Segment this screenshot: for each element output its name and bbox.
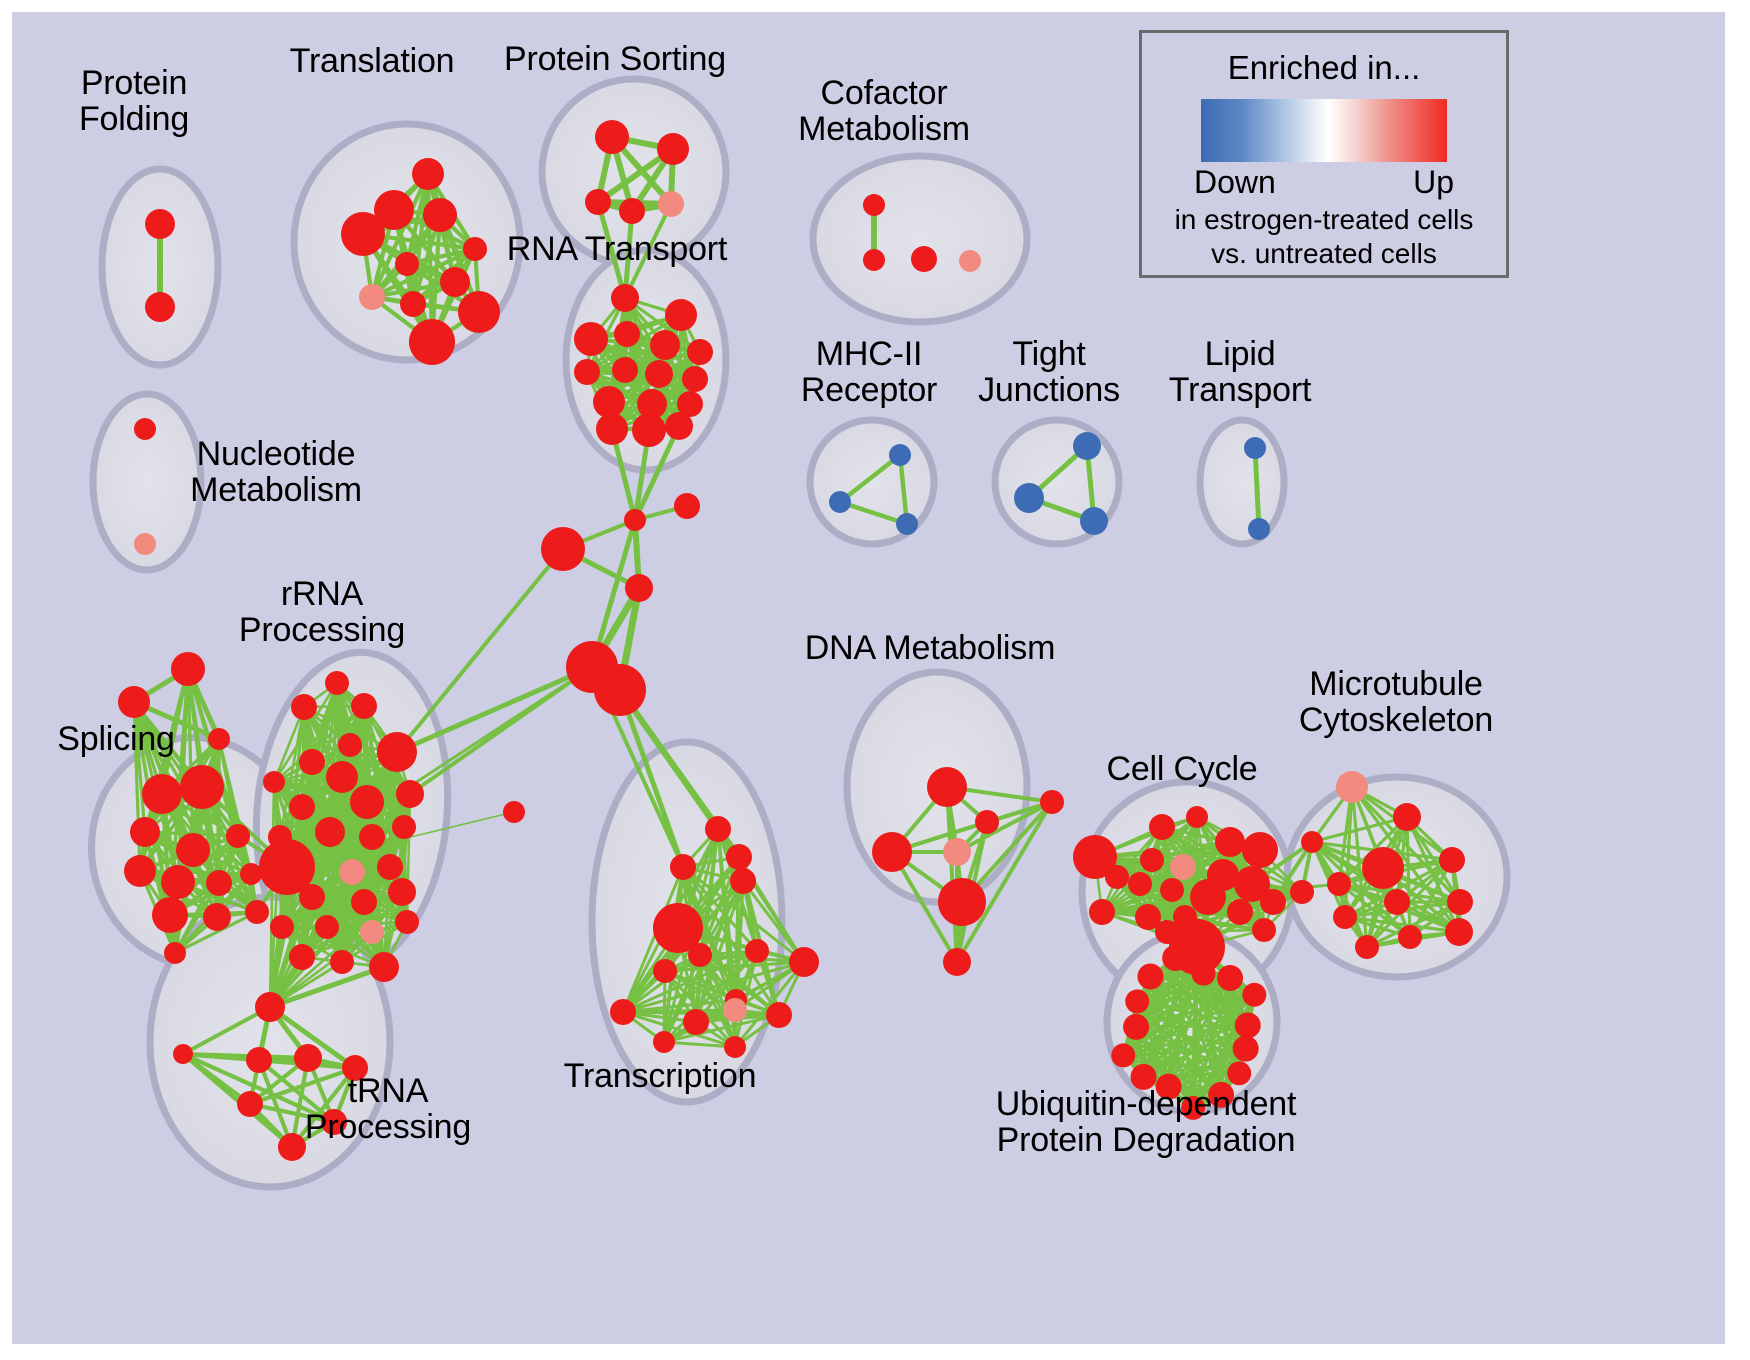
network-node [176,833,210,867]
network-node [134,418,156,440]
network-node [1327,872,1351,896]
network-node [180,765,224,809]
network-node [1445,918,1473,946]
bubble-cofactor-metabolism [813,156,1027,322]
network-node [724,1036,746,1058]
network-node [1398,925,1422,949]
network-node [289,794,315,820]
network-node [789,947,819,977]
network-node [670,854,696,880]
network-node [315,915,339,939]
network-node [1233,1036,1259,1062]
network-node [1336,771,1368,803]
network-node [392,815,416,839]
network-node [359,284,385,310]
cluster-label-dna-metabolism: DNA Metabolism [805,631,1055,667]
cluster-label-translation: Translation [290,44,455,80]
network-node [351,693,377,719]
network-node [1089,899,1115,925]
cluster-label-rrna-processing: rRNA Processing [239,577,405,648]
network-node [388,878,416,906]
network-node [911,246,937,272]
network-node [118,686,150,718]
network-node [541,527,585,571]
network-node [614,321,640,347]
network-node [665,412,693,440]
network-node [278,1133,306,1161]
network-node [1362,847,1404,889]
network-node [255,992,285,1022]
network-node [377,854,403,880]
network-node [959,250,981,272]
cluster-label-trna-processing: tRNA Processing [305,1074,471,1145]
network-node [653,903,703,953]
cluster-label-transcription: Transcription [564,1059,757,1095]
network-node [1244,437,1266,459]
network-node [1170,854,1196,880]
network-node [338,733,362,757]
network-node [396,780,424,808]
network-node [653,959,677,983]
network-node [1242,832,1278,868]
bubble-lipid-transport [1200,420,1284,544]
network-node [1217,965,1243,991]
network-node [726,844,752,870]
network-node [395,910,419,934]
network-node [674,493,700,519]
network-node [409,319,455,365]
network-node [896,513,918,535]
legend-caption-line2: vs. untreated cells [1142,239,1506,269]
cluster-label-lipid-transport: Lipid Transport [1169,337,1311,408]
network-node [1137,963,1163,989]
network-node [1014,483,1044,513]
network-node [341,212,385,256]
network-node [289,944,315,970]
network-node [458,291,500,333]
network-node [134,533,156,555]
network-node [625,574,653,602]
network-node [463,237,487,261]
network-node [240,863,262,885]
network-node [1192,962,1216,986]
network-node [206,870,232,896]
network-node [161,865,195,899]
cluster-label-ubiquitin: Ubiquitin-dependent Protein Degradation [996,1087,1297,1158]
cluster-label-splicing: Splicing [57,722,174,758]
network-node [339,859,365,885]
legend-color-gradient-bar [1201,99,1447,162]
network-node [1355,935,1379,959]
network-node [1111,1043,1135,1067]
network-node [1080,507,1108,535]
network-node [270,915,294,939]
network-node [377,732,417,772]
network-node [1242,983,1266,1007]
network-node [351,889,377,915]
network-node [246,1047,272,1073]
cluster-label-microtubule: Microtubule Cytoskeleton [1299,667,1493,738]
network-node [299,884,325,910]
cluster-label-tight-junctions: Tight Junctions [978,337,1120,408]
legend-box: Enriched in... Down Up in estrogen-treat… [1139,30,1509,278]
network-node [1149,814,1175,840]
network-node [943,948,971,976]
network-node [863,249,885,271]
network-node [1160,878,1184,902]
legend-high-label: Up [1413,164,1454,201]
network-node [173,1044,193,1064]
network-node [766,1002,792,1028]
network-node [208,728,230,750]
network-node [1235,1012,1261,1038]
network-node [145,292,175,322]
network-node [291,694,317,720]
cluster-label-protein-sorting: Protein Sorting [504,42,726,78]
network-node [1227,899,1253,925]
network-node [829,491,851,513]
network-node [330,950,354,974]
network-node [596,413,628,445]
network-node [938,878,986,926]
network-node [723,998,747,1022]
network-node [395,252,419,276]
network-node [503,801,525,823]
legend-caption-line1: in estrogen-treated cells [1142,205,1506,235]
cluster-label-cofactor-metabolism: Cofactor Metabolism [798,76,970,147]
network-node [872,832,912,872]
network-node [350,785,384,819]
network-node [1384,889,1410,915]
network-node [226,824,250,848]
network-node [863,194,885,216]
network-node [1140,848,1164,872]
network-node [315,817,345,847]
network-node [657,133,689,165]
network-edge [1136,1025,1248,1027]
network-node [595,120,629,154]
legend-title: Enriched in... [1142,49,1506,87]
network-node [889,444,911,466]
network-node [1162,945,1188,971]
network-node [653,1031,675,1053]
network-node [164,942,186,964]
network-node [400,291,426,317]
network-node [1439,847,1465,873]
network-node [730,868,756,894]
cluster-label-protein-folding: Protein Folding [79,66,189,137]
network-node [593,386,625,418]
network-node [1125,989,1149,1013]
network-node [1215,827,1245,857]
network-node [682,366,708,392]
network-node [1333,905,1357,929]
network-node [1155,920,1179,944]
network-node [683,1009,709,1035]
network-node [574,359,600,385]
network-node [1252,918,1276,942]
network-node [975,810,999,834]
network-node [1260,889,1286,915]
network-node [585,189,611,215]
network-node [1248,518,1270,540]
network-node [145,209,175,239]
network-node [1393,803,1421,831]
network-node [299,749,325,775]
network-node [130,817,160,847]
legend-low-label: Down [1194,164,1276,201]
network-node [412,158,444,190]
network-node [1447,889,1473,915]
network-edge [397,549,563,752]
network-node [665,299,697,331]
network-node [610,999,636,1025]
network-node [1290,880,1314,904]
cluster-label-mhc-ii-receptor: MHC-II Receptor [801,337,937,408]
network-node [612,357,638,383]
network-node [1040,790,1064,814]
network-node [1186,806,1208,828]
network-node [294,1044,322,1072]
network-node [152,897,188,933]
network-node [611,284,639,312]
network-node [619,198,645,224]
network-node [594,664,646,716]
network-node [369,952,399,982]
network-plot-area: Protein Folding Translation Protein Sort… [12,12,1725,1344]
network-node [645,360,673,388]
network-node [927,767,967,807]
network-node [263,771,285,793]
network-node [359,824,385,850]
network-node [650,330,680,360]
network-node [687,339,713,365]
network-node [943,838,971,866]
network-node [632,413,666,447]
network-node [1227,1061,1251,1085]
cluster-label-nucleotide-metabolism: Nucleotide Metabolism [190,437,362,508]
network-node [245,900,269,924]
network-node [624,509,646,531]
network-node [1301,831,1323,853]
network-node [440,267,470,297]
network-node [1073,432,1101,460]
network-node [1190,879,1226,915]
network-node [237,1091,263,1117]
network-node [423,198,457,232]
network-node [1105,865,1129,889]
network-node [658,191,684,217]
cluster-label-rna-transport: RNA Transport [507,232,727,268]
network-node [705,816,731,842]
network-node [574,322,608,356]
network-node [360,920,384,944]
network-node [142,774,182,814]
network-node [124,855,156,887]
network-node [1123,1014,1149,1040]
network-node [326,761,358,793]
network-node [1128,872,1152,896]
cluster-label-cell-cycle: Cell Cycle [1106,752,1257,788]
figure-canvas: Protein Folding Translation Protein Sort… [0,0,1750,1360]
network-node [325,671,349,695]
network-node [171,652,205,686]
network-node [203,903,231,931]
network-node [745,939,769,963]
network-edge [623,1010,735,1012]
